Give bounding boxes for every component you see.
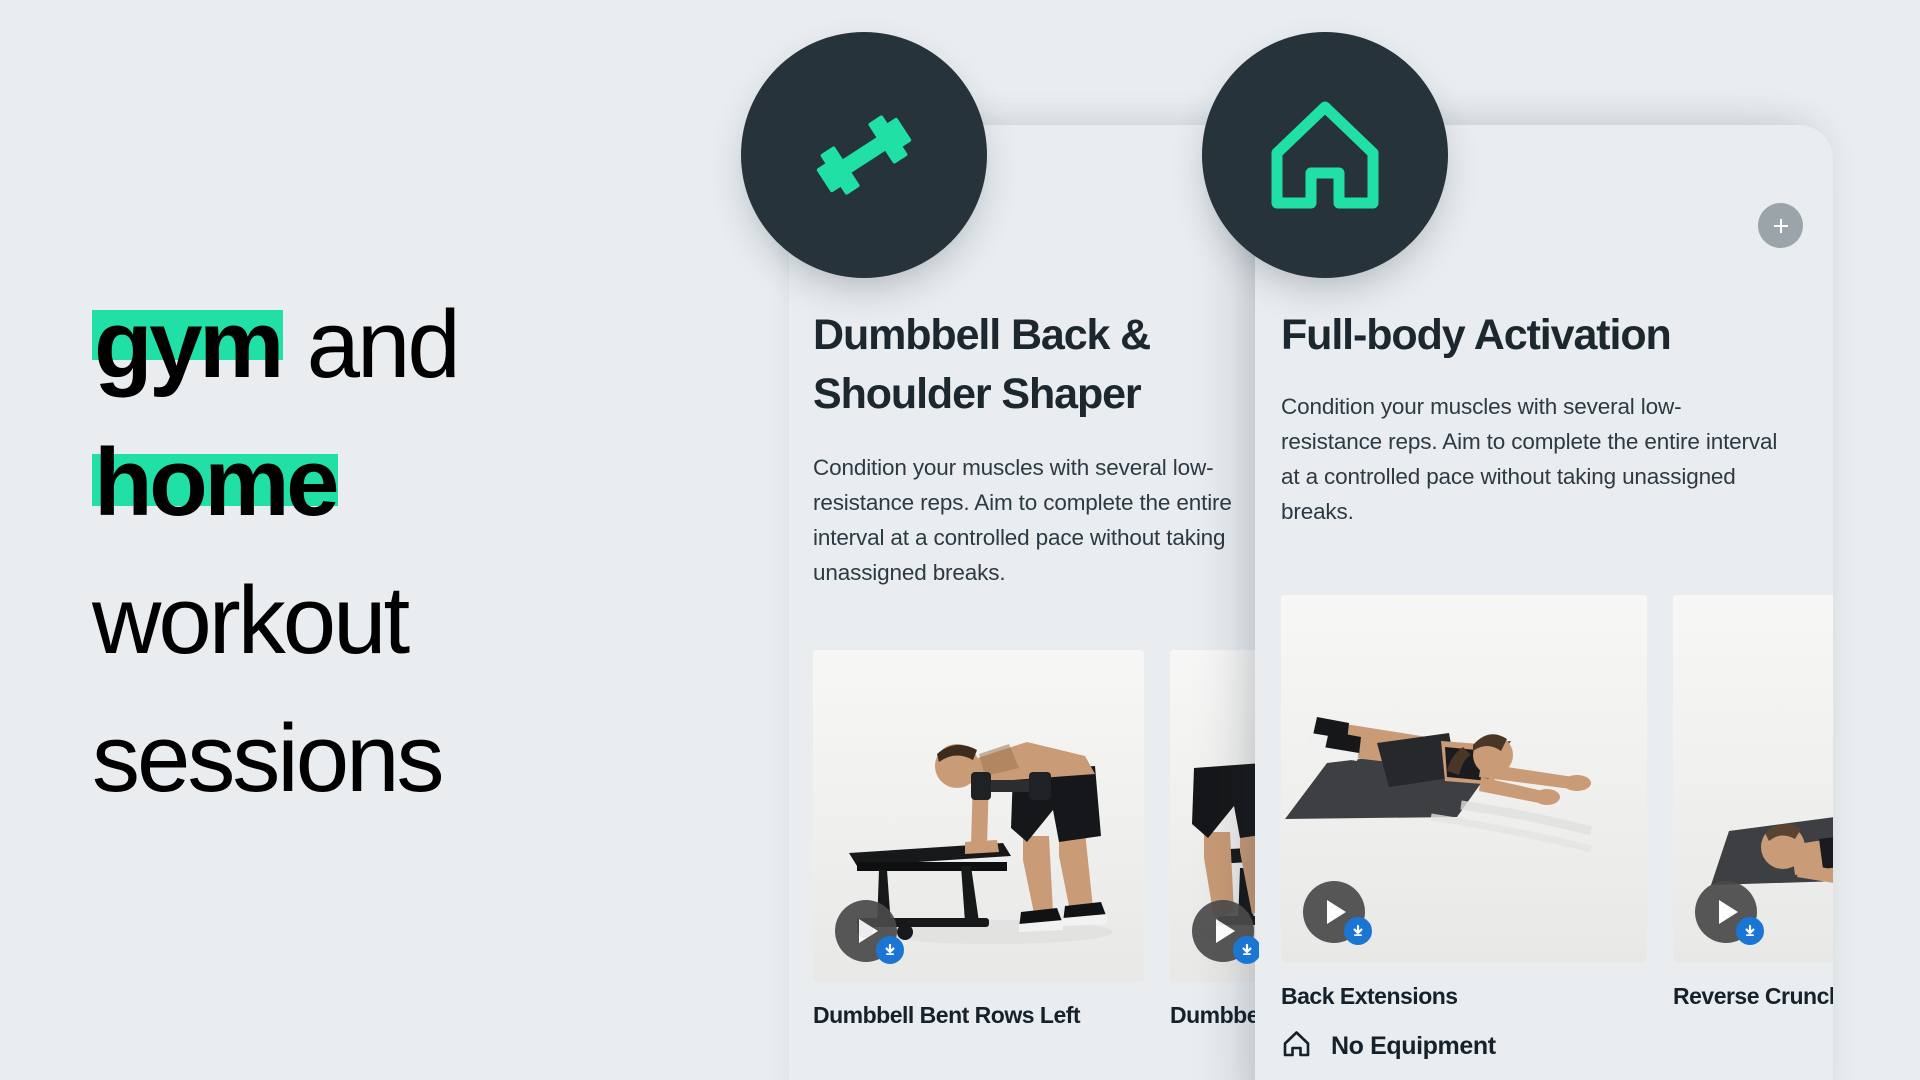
add-button[interactable] — [1758, 203, 1803, 248]
exercise-label: Back Extensions — [1281, 983, 1647, 1010]
exercise-label: Dumbbell Bent Rows Right — [1170, 1002, 1259, 1029]
home-outline-icon — [1281, 1028, 1312, 1064]
play-button-wrap[interactable] — [835, 900, 897, 962]
download-icon[interactable] — [876, 936, 904, 964]
gym-card-text: Dumbbell Back & Shoulder Shaper Conditio… — [813, 306, 1259, 590]
download-icon[interactable] — [1736, 917, 1764, 945]
dumbbell-icon — [804, 95, 924, 215]
workout-cards: Dumbbell Back & Shoulder Shaper Conditio… — [0, 0, 1920, 1080]
exercise-label: Dumbbell Bent Rows Left — [813, 1002, 1144, 1029]
play-button-wrap[interactable] — [1192, 900, 1254, 962]
home-card-title: Full-body Activation — [1281, 306, 1821, 365]
exercise-item[interactable]: Back Extensions — [1281, 595, 1647, 1010]
home-card-body: Condition your muscles with several low-… — [1281, 389, 1781, 529]
exercise-label: Reverse Crunches — [1673, 983, 1833, 1010]
play-button-wrap[interactable] — [1695, 881, 1757, 943]
download-icon[interactable] — [1344, 917, 1372, 945]
gym-exercise-list: Dumbbell Bent Rows Left — [813, 650, 1259, 1029]
exercise-thumbnail[interactable] — [1281, 595, 1647, 963]
home-badge — [1202, 32, 1448, 278]
exercise-thumbnail[interactable] — [1673, 595, 1833, 963]
exercise-item[interactable]: Dumbbell Bent Rows Left — [813, 650, 1144, 1029]
home-icon — [1263, 93, 1387, 217]
plus-icon — [1770, 215, 1792, 237]
home-exercise-list: Back Extensions — [1281, 595, 1833, 1010]
exercise-thumbnail[interactable] — [1170, 650, 1259, 982]
exercise-thumbnail[interactable] — [813, 650, 1144, 982]
equipment-label: No Equipment — [1331, 1032, 1496, 1061]
gym-card-body: Condition your muscles with several low-… — [813, 450, 1259, 590]
download-icon[interactable] — [1233, 936, 1259, 964]
exercise-item[interactable]: Dumbbell Bent Rows Right — [1170, 650, 1259, 1029]
exercise-item[interactable]: Reverse Crunches — [1673, 595, 1833, 1010]
equipment-row: No Equipment — [1281, 1028, 1496, 1064]
home-card-text: Full-body Activation Condition your musc… — [1281, 306, 1821, 529]
gym-badge — [741, 32, 987, 278]
play-button-wrap[interactable] — [1303, 881, 1365, 943]
gym-card-title: Dumbbell Back & Shoulder Shaper — [813, 306, 1259, 424]
